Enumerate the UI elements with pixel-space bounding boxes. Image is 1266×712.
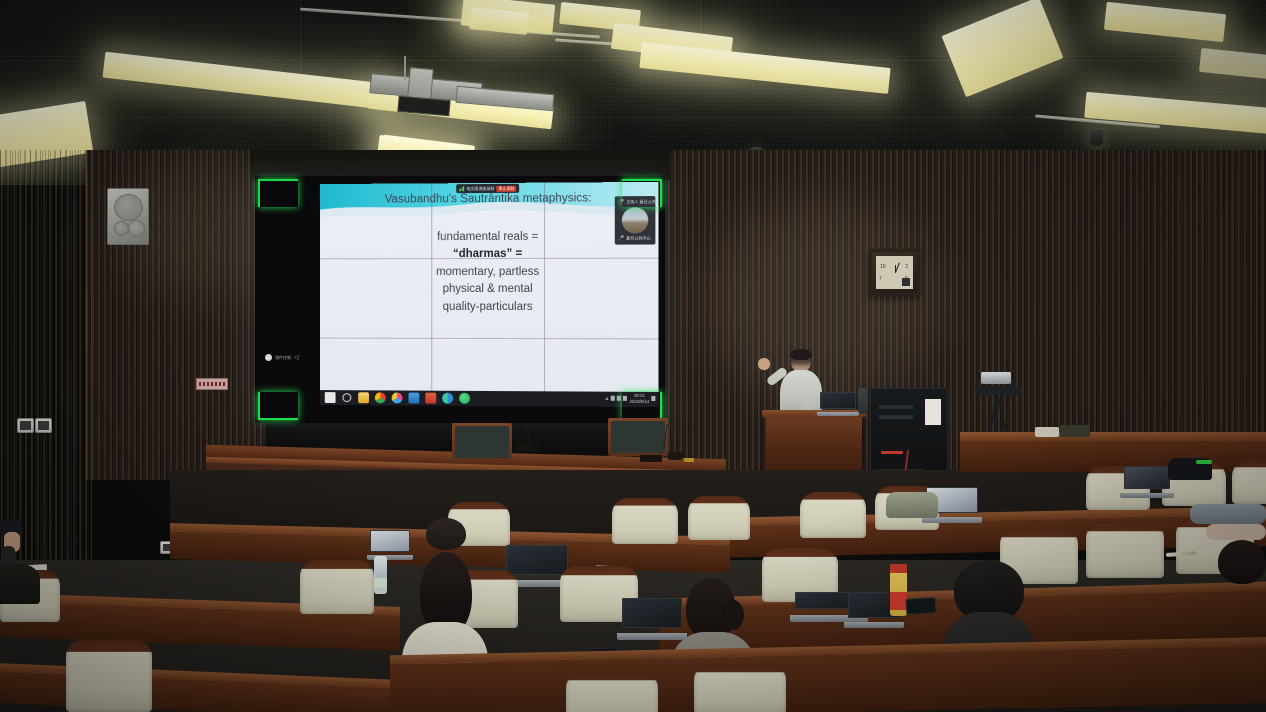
audience-member-with-phone	[0, 520, 64, 600]
arm	[1206, 524, 1266, 540]
meeting-panel-footer: 🎤 复旦公共中心	[615, 233, 656, 241]
torso	[0, 564, 40, 604]
desk-object	[1035, 427, 1059, 437]
seat	[66, 640, 152, 712]
bottle-cap	[890, 564, 907, 573]
seat	[566, 672, 658, 712]
powerpoint-icon[interactable]	[425, 393, 436, 404]
wall-clock: 10 2 7 5	[869, 249, 920, 296]
chevron-up-icon[interactable]: ▲	[605, 395, 609, 401]
legs	[1190, 504, 1266, 524]
desk-object	[684, 458, 694, 462]
recording-toolbar[interactable]: 电文图讲座录制 停止录制	[456, 184, 520, 193]
screen-corner-marker	[622, 179, 662, 207]
search-icon[interactable]	[342, 393, 351, 402]
desk-microphone-base	[640, 455, 662, 462]
audience-member-seated-right	[1216, 540, 1266, 620]
wall-wood-right	[1180, 150, 1266, 450]
screen-corner-marker	[622, 392, 662, 420]
wall-socket[interactable]	[17, 418, 34, 433]
wall-speaker	[107, 188, 149, 245]
video-wall-display[interactable]: 课件控制 ◁	[255, 176, 665, 423]
slide-body: fundamental reals = “dharmas” = momentar…	[320, 228, 659, 316]
lecture-hall-photo: 10 2 7 5 课件控制 ◁	[0, 0, 1266, 712]
seat	[1232, 460, 1266, 504]
jacket	[886, 492, 938, 518]
seat	[800, 492, 866, 538]
hair-tie	[722, 600, 744, 630]
projected-screen[interactable]: Vasubandhu's Sautrāntika metaphysics: fu…	[320, 182, 659, 407]
seat	[1086, 522, 1164, 578]
slide-line-emphasis: “dharmas” =	[320, 246, 659, 264]
slide-title: Vasubandhu's Sautrāntika metaphysics:	[320, 192, 659, 206]
spotlight	[1090, 130, 1103, 146]
water-bottle	[858, 388, 867, 414]
signal-icon	[459, 186, 465, 191]
head	[1218, 540, 1266, 584]
presentation-slide: Vasubandhu's Sautrāntika metaphysics: fu…	[320, 182, 659, 407]
presenter-hand	[758, 358, 770, 370]
wall-socket[interactable]	[35, 418, 52, 433]
slide-line: physical & mental	[320, 281, 659, 299]
phone-on-desk[interactable]	[905, 597, 936, 615]
browser-icon[interactable]	[392, 392, 403, 403]
bezel-control-widget[interactable]: 课件控制 ◁	[265, 354, 299, 361]
audience-laptop[interactable]	[1124, 466, 1170, 498]
desk-monitor[interactable]	[452, 423, 512, 461]
slide-line: quality-particulars	[320, 299, 659, 317]
start-button[interactable]	[325, 392, 336, 403]
app-icon[interactable]	[408, 393, 419, 404]
participant-avatar	[622, 207, 648, 233]
podium-laptop[interactable]	[820, 392, 856, 416]
water-bottle	[374, 556, 387, 594]
head	[426, 518, 466, 550]
rack-indicator	[881, 451, 903, 454]
rack-label	[925, 399, 941, 425]
desk-object	[1060, 425, 1090, 437]
screen-corner-marker	[258, 179, 298, 207]
edge-icon[interactable]	[442, 393, 453, 404]
network-icon[interactable]	[611, 396, 615, 401]
desk-object	[668, 452, 682, 460]
windows-taskbar[interactable]: ▲ 19:21 2024/6/14	[320, 390, 659, 407]
seat	[612, 498, 678, 544]
desk-monitor[interactable]	[608, 418, 668, 456]
camera-body	[981, 372, 1011, 384]
bottle-label	[374, 578, 387, 588]
seat	[300, 560, 374, 614]
wall-acoustic-right	[650, 150, 1266, 480]
control-dot-icon	[265, 354, 272, 361]
slide-line: fundamental reals =	[320, 228, 659, 247]
meeting-room-label: 复旦公共中心	[626, 235, 650, 241]
recording-status-label: 电文图讲座录制	[466, 185, 494, 191]
presenter-hair	[790, 349, 812, 360]
desk-microphone-stem	[526, 424, 530, 445]
wall-sign	[196, 378, 228, 390]
bezel-widget-label: 课件控制	[275, 355, 291, 361]
bottle-label	[890, 592, 907, 610]
microphone-icon: 🎤	[618, 236, 624, 242]
stop-recording-button[interactable]: 停止录制	[496, 185, 516, 191]
wechat-icon[interactable]	[459, 393, 470, 404]
bag-strap	[1196, 460, 1212, 464]
screen-corner-marker	[258, 392, 298, 420]
chevron-left-icon[interactable]: ◁	[294, 354, 299, 361]
seat	[694, 664, 786, 712]
volume-icon[interactable]	[617, 396, 621, 401]
desk-microphone-base	[517, 444, 539, 451]
chrome-icon[interactable]	[375, 392, 386, 403]
folder-icon[interactable]	[358, 392, 369, 403]
slide-line: “dharmas” =	[453, 248, 522, 260]
seat	[688, 496, 750, 540]
slide-line: momentary, partless	[320, 264, 659, 282]
